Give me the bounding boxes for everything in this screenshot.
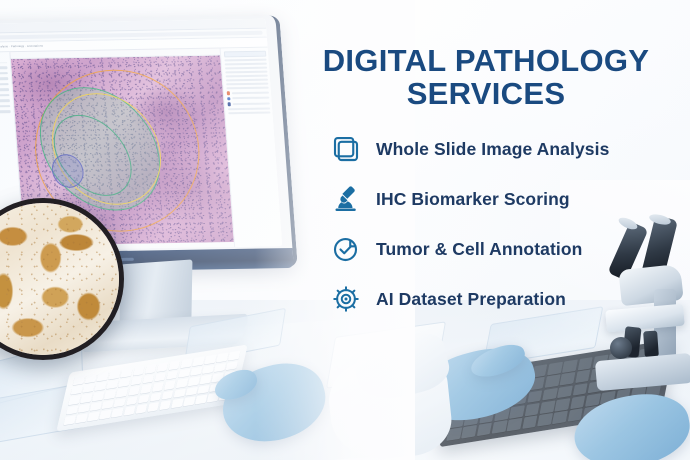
target-check-icon [330, 233, 362, 265]
legend-item [226, 91, 268, 95]
metric-row [225, 75, 267, 78]
sidebar-heading: Layers [0, 55, 7, 59]
ihc-circular-inset [0, 198, 124, 360]
metric-row [228, 111, 270, 114]
title-line-1: DIGITAL PATHOLOGY [323, 43, 650, 78]
metric-row [226, 87, 268, 90]
metric-row [225, 79, 267, 82]
ihc-texture [0, 203, 119, 355]
layer-item[interactable] [0, 77, 8, 81]
metric-row [224, 59, 266, 62]
feature-item-ihc-biomarker-scoring[interactable]: IHC Biomarker Scoring [330, 183, 680, 215]
layer-item[interactable] [0, 99, 10, 103]
layer-item[interactable] [0, 66, 8, 70]
page-title: DIGITAL PATHOLOGY SERVICES [296, 44, 676, 111]
gear-target-icon [330, 283, 362, 315]
feature-label: IHC Biomarker Scoring [376, 189, 570, 210]
frame-slide-icon [330, 133, 362, 165]
ihc-dab-image [0, 203, 119, 355]
feature-label: Whole Slide Image Analysis [376, 139, 609, 160]
layer-item[interactable] [0, 105, 10, 109]
feature-item-ai-dataset-preparation[interactable]: AI Dataset Preparation [330, 283, 680, 315]
metric-row [225, 71, 267, 74]
title-line-2: SERVICES [296, 77, 676, 110]
layer-item[interactable] [0, 110, 11, 114]
metric-row [226, 83, 268, 86]
layer-item[interactable] [0, 88, 9, 92]
feature-item-tumor-cell-annotation[interactable]: Tumor & Cell Annotation [330, 233, 680, 265]
legend-item [227, 96, 269, 100]
metric-row [224, 63, 266, 66]
microscope-icon [330, 183, 362, 215]
breadcrumb: Analysis · Pathology · Annotations [0, 45, 43, 49]
divider [0, 62, 7, 64]
feature-label: AI Dataset Preparation [376, 289, 566, 310]
feature-list: Whole Slide Image Analysis IHC Biomarker… [330, 133, 680, 315]
content-panel: DIGITAL PATHOLOGY SERVICES Whole Slide I… [296, 0, 690, 460]
metric-row [224, 67, 266, 70]
layer-item[interactable] [0, 83, 9, 87]
panel-button[interactable] [223, 51, 265, 58]
legend-item [227, 102, 269, 106]
feature-label: Tumor & Cell Annotation [376, 239, 582, 260]
layer-item[interactable] [0, 72, 8, 76]
banner-stage: View Tools Image Analysis · Pathology · … [0, 0, 690, 460]
layer-item[interactable] [0, 94, 10, 98]
feature-item-whole-slide-image-analysis[interactable]: Whole Slide Image Analysis [330, 133, 680, 165]
metric-row [227, 107, 269, 110]
